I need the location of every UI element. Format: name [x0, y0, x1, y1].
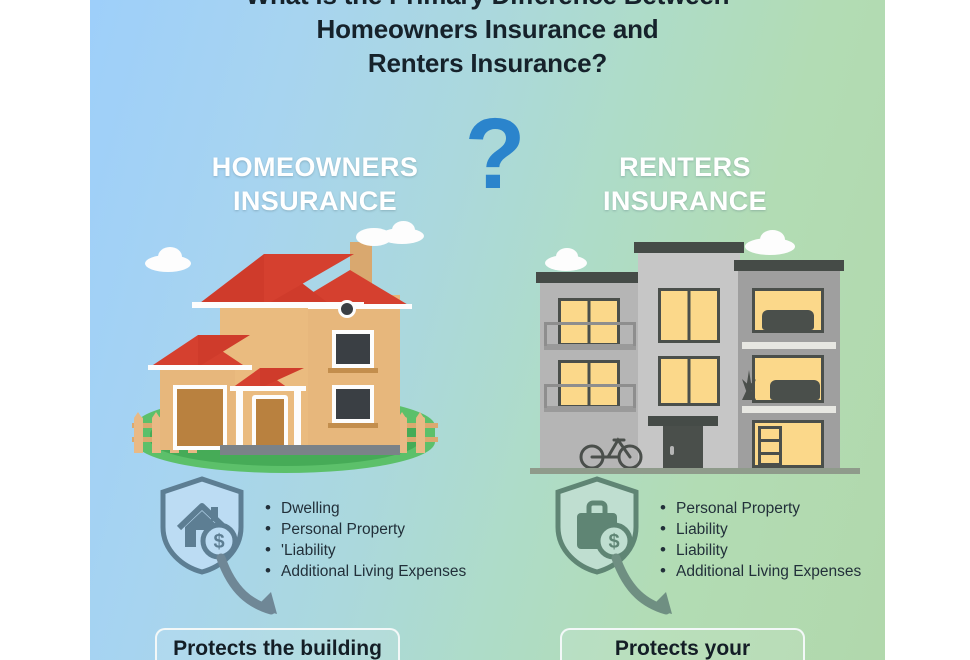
coverage-list-renters: Personal Property Liability Liability Ad… [660, 498, 861, 582]
infographic-canvas: What is the Primary Difference Between H… [0, 0, 970, 660]
ground-line [530, 468, 860, 474]
list-item: Additional Living Expenses [265, 561, 466, 582]
window-upper [332, 330, 374, 368]
title-line-2: Homeowners Insurance and [90, 12, 885, 46]
porch-post-right [294, 390, 301, 450]
list-item: Liability [660, 519, 861, 540]
column-heading-renters: RENTERS INSURANCE [520, 150, 850, 218]
garage-door [173, 385, 227, 450]
title-line-3: Renters Insurance? [90, 46, 885, 80]
summary-text: Protects the building [173, 637, 382, 660]
bookshelf-shelf [758, 452, 782, 455]
title-line-1: What is the Primary Difference Between [90, 0, 885, 12]
bookshelf-icon [758, 426, 782, 466]
attic-window [338, 300, 356, 318]
list-item: 'Liability [265, 540, 466, 561]
coverage-list-homeowners: Dwelling Personal Property 'Liability Ad… [265, 498, 466, 582]
summary-box-renters: Protects your [560, 628, 805, 660]
balcony-rail-lower [544, 384, 636, 408]
svg-text:$: $ [213, 531, 224, 553]
bicycle-icon [578, 430, 646, 470]
illustration-apartment [530, 230, 860, 480]
house-body [160, 240, 415, 455]
illustration-house [120, 230, 450, 480]
arrow-down-icon [610, 552, 690, 627]
roof-main-slope [264, 254, 354, 306]
svg-text:$: $ [608, 531, 619, 553]
window-sill-lower [328, 423, 378, 428]
arrow-down-icon [215, 552, 295, 627]
list-item: Personal Property [265, 519, 466, 540]
sofa-icon [770, 380, 820, 400]
entrance-door [663, 426, 703, 472]
page-title: What is the Primary Difference Between H… [90, 0, 885, 80]
list-item: Dwelling [265, 498, 466, 519]
entrance-awning [648, 416, 718, 426]
apartment-cap-left [536, 272, 644, 283]
bookshelf-shelf [758, 439, 782, 442]
list-item: Additional Living Expenses [660, 561, 861, 582]
porch-roof-slope [260, 368, 304, 388]
window-center-upper [658, 288, 720, 343]
sofa-icon [762, 310, 814, 330]
heading-line-1: HOMEOWNERS [150, 150, 480, 184]
porch-post-left [236, 390, 243, 450]
list-item: Personal Property [660, 498, 861, 519]
apartment-cap-center [634, 242, 744, 253]
floor-ledge-3f [742, 342, 836, 349]
list-item: Liability [660, 540, 861, 561]
window-center-lower [658, 356, 720, 406]
summary-text: Protects your [615, 637, 750, 660]
balcony-rail-upper [544, 322, 636, 346]
window-sill-upper [328, 368, 378, 373]
heading-line-2: INSURANCE [150, 184, 480, 218]
heading-line-1: RENTERS [520, 150, 850, 184]
foundation [220, 445, 400, 455]
garage-roof-slope [198, 335, 250, 367]
column-heading-homeowners: HOMEOWNERS INSURANCE [150, 150, 480, 218]
floor-ledge-2f [742, 406, 836, 413]
heading-line-2: INSURANCE [520, 184, 850, 218]
chimney-smoke [356, 228, 392, 246]
door-handle [670, 446, 674, 455]
gradient-background: What is the Primary Difference Between H… [90, 0, 885, 660]
summary-box-homeowners: Protects the building [155, 628, 400, 660]
window-lower [332, 385, 374, 423]
question-mark-icon: ? [455, 104, 535, 204]
front-door [252, 395, 288, 450]
apartment-cap-right [734, 260, 844, 271]
